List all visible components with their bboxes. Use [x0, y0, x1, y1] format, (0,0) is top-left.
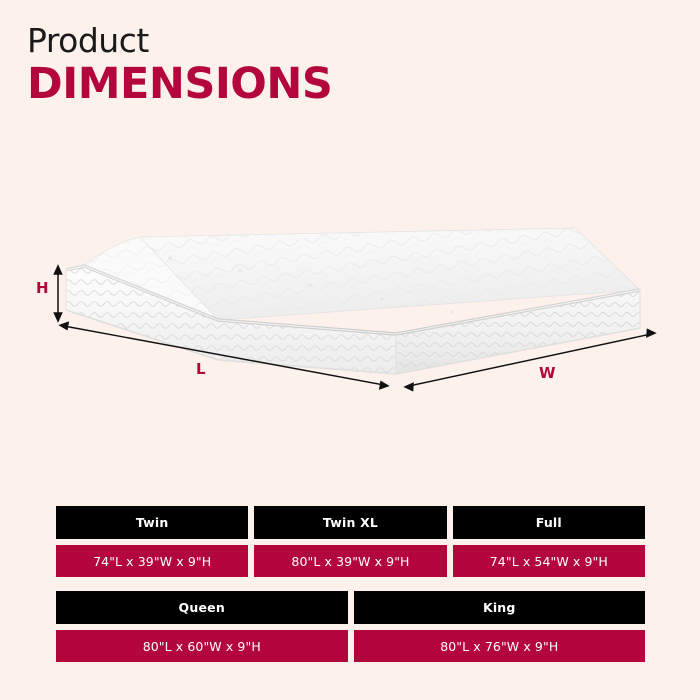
size-cell-king: King 80"L x 76"W x 9"H	[354, 591, 646, 662]
size-cell-twin: Twin 74"L x 39"W x 9"H	[56, 506, 248, 577]
size-cell-twin-xl: Twin XL 80"L x 39"W x 9"H	[254, 506, 446, 577]
size-name-king: King	[354, 591, 646, 624]
page-title: Product DIMENSIONS	[27, 24, 332, 106]
size-dimensions-table: Twin 74"L x 39"W x 9"H Twin XL 80"L x 39…	[56, 506, 645, 662]
dimension-label-width: W	[539, 366, 556, 381]
size-row: Twin 74"L x 39"W x 9"H Twin XL 80"L x 39…	[56, 506, 645, 577]
size-dimensions-twin: 74"L x 39"W x 9"H	[56, 545, 248, 577]
dimension-label-length: L	[196, 362, 206, 377]
size-dimensions-full: 74"L x 54"W x 9"H	[453, 545, 645, 577]
size-dimensions-queen: 80"L x 60"W x 9"H	[56, 630, 348, 662]
mattress-illustration	[0, 200, 700, 430]
title-line-product: Product	[27, 24, 332, 57]
size-name-queen: Queen	[56, 591, 348, 624]
title-line-dimensions: DIMENSIONS	[27, 63, 332, 106]
size-name-twin-xl: Twin XL	[254, 506, 446, 539]
size-name-twin: Twin	[56, 506, 248, 539]
dimension-label-height: H	[36, 281, 49, 296]
size-cell-queen: Queen 80"L x 60"W x 9"H	[56, 591, 348, 662]
size-dimensions-twin-xl: 80"L x 39"W x 9"H	[254, 545, 446, 577]
size-name-full: Full	[453, 506, 645, 539]
size-dimensions-king: 80"L x 76"W x 9"H	[354, 630, 646, 662]
size-cell-full: Full 74"L x 54"W x 9"H	[453, 506, 645, 577]
size-row: Queen 80"L x 60"W x 9"H King 80"L x 76"W…	[56, 591, 645, 662]
product-dimensions-page: Product DIMENSIONS	[0, 0, 700, 700]
